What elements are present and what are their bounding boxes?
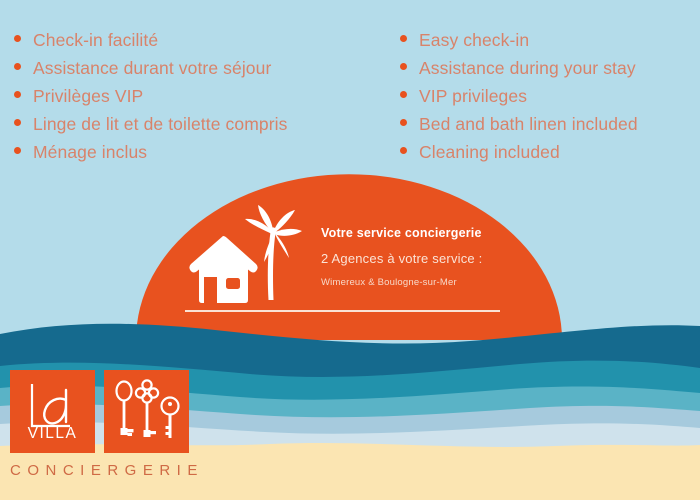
bullet-dot-icon (400, 147, 407, 154)
bullet-dot-icon (14, 119, 21, 126)
service-panel: Votre service conciergerie 2 Agences à v… (185, 196, 515, 316)
bullet-dot-icon (14, 147, 21, 154)
list-item: Assistance durant votre séjour (14, 54, 384, 82)
three-keys-icon (104, 370, 189, 453)
bullet-dot-icon (400, 119, 407, 126)
palm-tree-icon (245, 205, 302, 300)
list-item: Check-in facilité (14, 26, 384, 54)
house-icon (189, 236, 257, 303)
service-heading: Votre service conciergerie (321, 226, 482, 240)
list-item: Linge de lit et de toilette compris (14, 110, 384, 138)
bullet-dot-icon (400, 35, 407, 42)
benefit-label: Bed and bath linen included (419, 110, 638, 138)
service-locations: Wimereux & Boulogne-sur-Mer (321, 277, 482, 288)
list-item: Assistance during your stay (400, 54, 695, 82)
bullet-dot-icon (14, 91, 21, 98)
benefit-label: Assistance durant votre séjour (33, 54, 271, 82)
logo-box-la-villa: VILLA (10, 370, 95, 453)
list-item: VIP privileges (400, 82, 695, 110)
bullet-dot-icon (14, 63, 21, 70)
logo-boxes: VILLA (10, 370, 204, 453)
logo-wordmark: CONCIERGERIE (10, 462, 204, 479)
list-item: Easy check-in (400, 26, 695, 54)
service-subheading: 2 Agences à votre service : (321, 251, 482, 266)
bullet-dot-icon (14, 35, 21, 42)
benefit-label: Linge de lit et de toilette compris (33, 110, 287, 138)
house-and-palm-graphic (185, 202, 305, 310)
benefit-label: VIP privileges (419, 82, 527, 110)
list-item: Privilèges VIP (14, 82, 384, 110)
benefit-label: Ménage inclus (33, 138, 147, 166)
poster-canvas: Check-in facilité Assistance durant votr… (0, 0, 700, 500)
logo-box-keys (104, 370, 189, 453)
benefit-label: Check-in facilité (33, 26, 158, 54)
bullet-dot-icon (400, 63, 407, 70)
benefit-label: Cleaning included (419, 138, 560, 166)
list-item: Bed and bath linen included (400, 110, 695, 138)
bullet-dot-icon (400, 91, 407, 98)
list-item: Cleaning included (400, 138, 695, 166)
benefits-list-en: Easy check-in Assistance during your sta… (400, 26, 695, 166)
logo-villa-label: VILLA (10, 425, 95, 443)
benefit-label: Privilèges VIP (33, 82, 143, 110)
brand-logo[interactable]: VILLA (10, 370, 204, 479)
list-item: Ménage inclus (14, 138, 384, 166)
benefit-label: Easy check-in (419, 26, 529, 54)
panel-divider (185, 310, 500, 312)
service-text-block: Votre service conciergerie 2 Agences à v… (321, 226, 482, 288)
benefits-list-fr: Check-in facilité Assistance durant votr… (14, 26, 384, 166)
benefit-label: Assistance during your stay (419, 54, 636, 82)
